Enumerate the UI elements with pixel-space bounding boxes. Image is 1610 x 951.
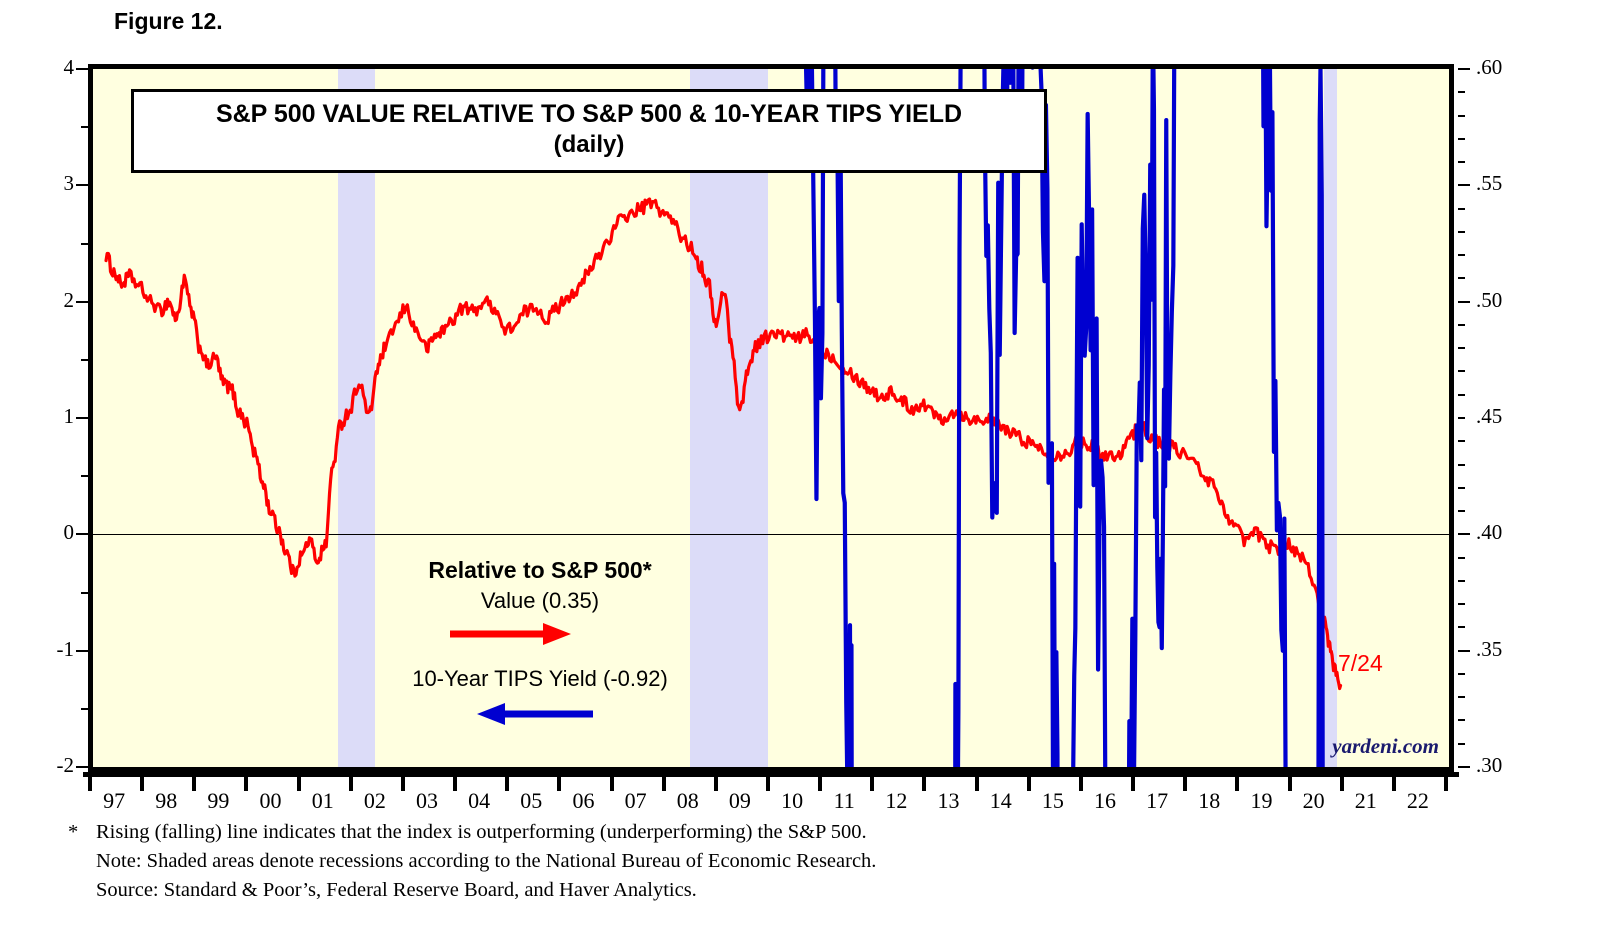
left-axis-tick-label: 4	[64, 55, 75, 80]
left-axis-tick-label: -2	[57, 753, 75, 778]
x-axis-tick	[453, 777, 457, 791]
x-axis-tick	[662, 777, 666, 791]
x-axis-tick	[297, 777, 301, 791]
left-axis-major-tick	[76, 68, 88, 70]
right-axis-minor-tick	[1458, 603, 1465, 605]
right-axis-tick-label: .30	[1476, 753, 1502, 778]
x-axis-tick	[1183, 777, 1187, 791]
left-axis-major-tick	[76, 533, 88, 535]
x-axis-tick	[1392, 777, 1396, 791]
x-axis-tick	[244, 777, 248, 791]
chart-plot-area: S&P 500 VALUE RELATIVE TO S&P 500 & 10-Y…	[88, 64, 1454, 772]
right-axis-minor-tick	[1458, 417, 1465, 419]
x-axis-tick-label: 08	[677, 788, 699, 814]
legend-value-arrow-row	[375, 614, 705, 656]
x-axis-tick	[1340, 777, 1344, 791]
right-axis-minor-tick	[1458, 557, 1465, 559]
right-axis-minor-tick	[1458, 138, 1465, 140]
x-axis-tick-label: 06	[572, 788, 594, 814]
plot-inner: S&P 500 VALUE RELATIVE TO S&P 500 & 10-Y…	[93, 69, 1449, 767]
legend-value-label: Value (0.35)	[375, 588, 705, 614]
right-axis-minor-tick	[1458, 370, 1465, 372]
left-axis-minor-tick	[81, 592, 88, 594]
x-axis-tick	[870, 777, 874, 791]
right-axis-minor-tick	[1458, 673, 1465, 675]
x-axis-tick-label: 13	[938, 788, 960, 814]
x-axis-tick	[505, 777, 509, 791]
yardeni-watermark: yardeni.com	[1332, 734, 1439, 759]
left-axis-minor-tick	[81, 243, 88, 245]
right-axis-major-tick	[1458, 68, 1470, 70]
x-axis-tick	[140, 777, 144, 791]
last-value-annotation: 7/24	[1338, 650, 1383, 677]
right-axis-tick-label: .55	[1476, 171, 1502, 196]
chart-title: S&P 500 VALUE RELATIVE TO S&P 500 & 10-Y…	[144, 100, 1034, 129]
x-axis-line	[83, 772, 1459, 777]
x-axis-tick-label: 97	[103, 788, 125, 814]
x-axis-tick	[922, 777, 926, 791]
right-axis-minor-tick	[1458, 161, 1465, 163]
x-axis-tick	[557, 777, 561, 791]
right-axis-tick-label: .45	[1476, 404, 1502, 429]
x-axis-tick-label: 98	[155, 788, 177, 814]
x-axis-tick-label: 17	[1146, 788, 1168, 814]
right-axis-major-tick	[1458, 766, 1470, 768]
right-axis-minor-tick	[1458, 208, 1465, 210]
x-axis-tick	[610, 777, 614, 791]
x-axis-tick-label: 01	[312, 788, 334, 814]
figure-page: Figure 12. S&P 500 VALUE RELATIVE TO S&P…	[0, 0, 1610, 951]
series-lines	[93, 69, 1449, 767]
x-axis-tick-label: 21	[1355, 788, 1377, 814]
right-axis-major-tick	[1458, 301, 1470, 303]
x-axis-tick-label: 22	[1407, 788, 1429, 814]
x-axis-tick	[1131, 777, 1135, 791]
right-axis-minor-tick	[1458, 580, 1465, 582]
x-axis-tick	[192, 777, 196, 791]
footnote-line-3: Source: Standard & Poor’s, Federal Reser…	[68, 876, 876, 905]
x-axis-tick-label: 07	[625, 788, 647, 814]
right-axis-minor-tick	[1458, 324, 1465, 326]
x-axis-tick	[818, 777, 822, 791]
left-axis-major-tick	[76, 301, 88, 303]
right-axis-major-tick	[1458, 650, 1470, 652]
x-axis-tick-label: 12	[885, 788, 907, 814]
arrow-left-icon	[375, 692, 705, 734]
right-axis-minor-tick	[1458, 487, 1465, 489]
footnote-line-1: * Rising (falling) line indicates that t…	[68, 818, 876, 847]
right-axis-minor-tick	[1458, 347, 1465, 349]
left-axis-tick-label: 3	[64, 171, 75, 196]
legend-heading: Relative to S&P 500*	[375, 557, 705, 584]
x-axis-tick	[766, 777, 770, 791]
left-axis-major-tick	[76, 766, 88, 768]
left-axis-tick-label: 0	[64, 520, 75, 545]
x-axis-tick-label: 11	[834, 788, 855, 814]
x-axis-tick-label: 18	[1198, 788, 1220, 814]
left-axis-minor-tick	[81, 475, 88, 477]
right-axis-minor-tick	[1458, 510, 1465, 512]
right-axis-minor-tick	[1458, 231, 1465, 233]
legend-tips-label: 10-Year TIPS Yield (-0.92)	[375, 666, 705, 692]
right-axis-minor-tick	[1458, 719, 1465, 721]
x-axis-tick	[401, 777, 405, 791]
x-axis-tick-label: 05	[520, 788, 542, 814]
right-axis-tick-label: .50	[1476, 288, 1502, 313]
x-axis-tick	[1079, 777, 1083, 791]
footnote-text-3: Source: Standard & Poor’s, Federal Reser…	[96, 879, 697, 901]
left-axis-minor-tick	[81, 359, 88, 361]
right-axis-tick-label: .35	[1476, 637, 1502, 662]
x-axis-tick	[1235, 777, 1239, 791]
footnote-star-marker: *	[68, 818, 78, 847]
chart-legend: Relative to S&P 500* Value (0.35) 10-Yea…	[375, 557, 705, 734]
right-axis-major-tick	[1458, 184, 1470, 186]
x-axis-tick	[1444, 777, 1448, 791]
footnotes-block: * Rising (falling) line indicates that t…	[68, 818, 876, 905]
left-axis-tick-label: -1	[57, 637, 75, 662]
left-axis-major-tick	[76, 417, 88, 419]
left-axis-tick-label: 2	[64, 288, 75, 313]
x-axis-tick-label: 00	[260, 788, 282, 814]
x-axis-tick-label: 03	[416, 788, 438, 814]
x-axis-tick-label: 09	[729, 788, 751, 814]
x-axis-tick	[88, 777, 92, 791]
right-axis-minor-tick	[1458, 626, 1465, 628]
right-axis-minor-tick	[1458, 464, 1465, 466]
x-axis-tick	[975, 777, 979, 791]
right-axis-tick-label: .40	[1476, 520, 1502, 545]
x-axis-tick-label: 20	[1303, 788, 1325, 814]
right-axis-tick-label: .60	[1476, 55, 1502, 80]
x-axis-tick	[1027, 777, 1031, 791]
left-axis-major-tick	[76, 650, 88, 652]
x-axis-tick-label: 02	[364, 788, 386, 814]
left-axis-tick-label: 1	[64, 404, 75, 429]
figure-number-label: Figure 12.	[114, 8, 223, 35]
right-axis-minor-tick	[1458, 696, 1465, 698]
right-axis-minor-tick	[1458, 254, 1465, 256]
left-axis-major-tick	[76, 184, 88, 186]
x-axis-tick	[1288, 777, 1292, 791]
left-axis-minor-tick	[81, 708, 88, 710]
footnote-line-2: Note: Shaded areas denote recessions acc…	[68, 847, 876, 876]
x-axis-tick-label: 04	[468, 788, 490, 814]
x-axis-tick-label: 10	[781, 788, 803, 814]
footnote-text-1: Rising (falling) line indicates that the…	[96, 821, 867, 843]
right-axis-major-tick	[1458, 533, 1470, 535]
chart-subtitle: (daily)	[144, 131, 1034, 160]
x-axis-tick-label: 19	[1250, 788, 1272, 814]
chart-title-box: S&P 500 VALUE RELATIVE TO S&P 500 & 10-Y…	[131, 89, 1047, 173]
x-axis-tick-label: 14	[990, 788, 1012, 814]
x-axis-tick-label: 16	[1094, 788, 1116, 814]
right-axis-minor-tick	[1458, 440, 1465, 442]
x-axis-tick-label: 99	[207, 788, 229, 814]
footnote-text-2: Note: Shaded areas denote recessions acc…	[96, 850, 876, 872]
right-axis-minor-tick	[1458, 91, 1465, 93]
left-axis-minor-tick	[81, 126, 88, 128]
legend-tips-arrow-row	[375, 692, 705, 734]
x-time-axis: 9798990001020304050607080910111213141516…	[88, 772, 1454, 816]
right-axis-minor-tick	[1458, 115, 1465, 117]
x-axis-tick	[714, 777, 718, 791]
right-axis-minor-tick	[1458, 277, 1465, 279]
right-axis-minor-tick	[1458, 743, 1465, 745]
x-axis-tick	[349, 777, 353, 791]
arrow-right-icon	[375, 614, 705, 656]
right-axis-minor-tick	[1458, 394, 1465, 396]
x-axis-tick-label: 15	[1042, 788, 1064, 814]
